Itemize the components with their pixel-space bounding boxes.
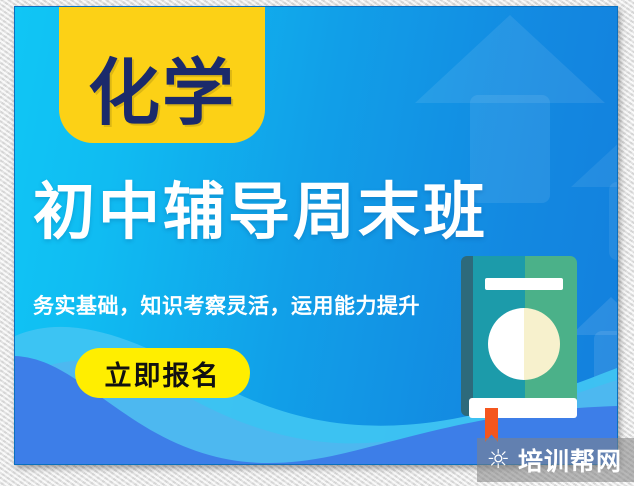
sun-face-icon: ☼ [487,447,510,473]
watermark-text: 培训帮网 [518,442,622,478]
book-icon [461,256,577,430]
enroll-now-button[interactable]: 立即报名 [75,348,250,398]
subject-badge: 化学 [59,6,265,143]
subject-badge-label: 化学 [88,57,236,129]
book-title-band [485,278,563,290]
banner-subtitle: 务实基础，知识考察灵活，运用能力提升 [33,290,420,320]
enroll-now-button-label: 立即报名 [105,354,221,393]
book-circle-emblem [488,308,560,380]
promotional-banner: 化学 初中辅导周末班 务实基础，知识考察灵活，运用能力提升 立即报名 [14,6,618,465]
watermark: ☼ 培训帮网 [477,438,634,482]
banner-headline: 初中辅导周末班 [33,179,599,244]
